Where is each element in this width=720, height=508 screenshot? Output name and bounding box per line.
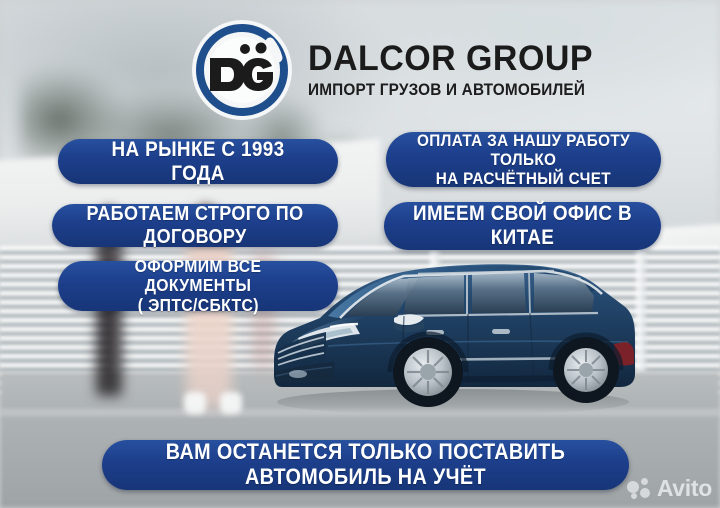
- avito-wordmark: Avito: [657, 477, 712, 500]
- badge-label-line1: ОПЛАТА ЗА НАШУ РАБОТУ ТОЛЬКО: [412, 131, 634, 169]
- brand-name: DALCOR GROUP: [308, 41, 597, 77]
- badge-documents: ОФОРМИМ ВСЕ ДОКУМЕНТЫ ( ЭПТС/СБКТС): [58, 261, 338, 311]
- badge-label: ИМЕЕМ СВОЙ ОФИС В КИТАЕ: [410, 202, 634, 249]
- avito-dots-logo-icon: [627, 478, 653, 500]
- brand-text-block: DALCOR GROUP ИМПОРТ ГРУЗОВ И АВТОМОБИЛЕЙ: [308, 39, 606, 100]
- background-person-shoe: [220, 392, 242, 414]
- badge-payment-terms: ОПЛАТА ЗА НАШУ РАБОТУ ТОЛЬКО НА РАСЧЁТНЫ…: [386, 132, 661, 187]
- brand-tagline: ИМПОРТ ГРУЗОВ И АВТОМОБИЛЕЙ: [308, 80, 585, 101]
- background-person-shoe: [184, 392, 206, 414]
- avito-watermark: Avito: [627, 477, 712, 500]
- background-wall-post: [636, 246, 646, 386]
- brand-logo-block: DALCOR GROUP ИМПОРТ ГРУЗОВ И АВТОМОБИЛЕЙ: [190, 18, 540, 122]
- badge-years-on-market: НА РЫНКЕ С 1993 ГОДА: [58, 139, 338, 184]
- badge-works-by-contract: РАБОТАЕМ СТРОГО ПО ДОГОВОРУ: [52, 204, 338, 247]
- dg-monogram-circle-logo-icon: [190, 18, 294, 122]
- advertisement-banner: DALCOR GROUP ИМПОРТ ГРУЗОВ И АВТОМОБИЛЕЙ…: [0, 0, 720, 508]
- badge-label-line2: НА РАСЧЁТНЫЙ СЧЕТ: [436, 169, 611, 188]
- badge-label: РАБОТАЕМ СТРОГО ПО ДОГОВОРУ: [79, 203, 311, 248]
- badge-label: ВАМ ОСТАНЕТСЯ ТОЛЬКО ПОСТАВИТЬ АВТОМОБИЛ…: [141, 440, 590, 489]
- badge-label: НА РЫНКЕ С 1993 ГОДА: [85, 138, 312, 185]
- badge-china-office: ИМЕЕМ СВОЙ ОФИС В КИТАЕ: [384, 202, 661, 250]
- badge-label-line2: ( ЭПТС/СБКТС): [137, 296, 258, 316]
- badge-label-line1: ОФОРМИМ ВСЕ ДОКУМЕНТЫ: [85, 257, 312, 296]
- badge-registration: ВАМ ОСТАНЕТСЯ ТОЛЬКО ПОСТАВИТЬ АВТОМОБИЛ…: [102, 440, 629, 490]
